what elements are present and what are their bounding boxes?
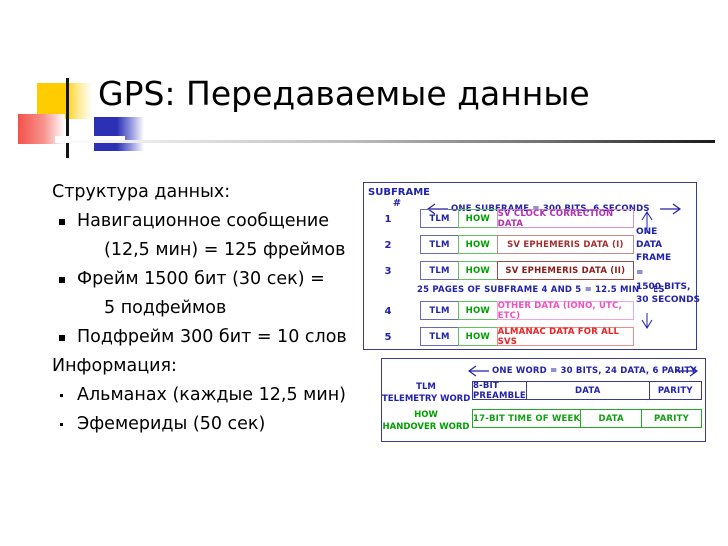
data-frame-annotation-line: 1500 BITS,	[636, 281, 700, 294]
how-word-name-line2: HANDOVER WORD	[382, 421, 470, 433]
subframe-pages-note: 25 PAGES OF SUBFRAME 4 AND 5 = 12.5 MINU…	[417, 285, 665, 295]
decor-blue-gradient	[117, 117, 144, 151]
body-list-item: Навигационное сообщение	[52, 207, 357, 236]
tlm-cell: TLM	[420, 235, 459, 254]
subframe-column-header-line2: #	[368, 199, 426, 209]
subframe-column-header-line1: SUBFRAME	[368, 188, 430, 198]
body-list-item: Эфемериды (50 сек)	[52, 410, 357, 439]
how-cell: HOW	[458, 301, 498, 320]
subframe-row: TLMHOWSV EPHEMERIS DATA (I)	[420, 235, 634, 254]
subframe-data-cell: SV CLOCK CORRECTION DATA	[497, 209, 634, 228]
word-field-cell: 17-BIT TIME OF WEEK	[472, 409, 581, 428]
decor-yellow-gradient	[65, 83, 92, 119]
how-word-name-line1: HOW	[384, 409, 468, 421]
body-heading: Структура данных:	[52, 178, 357, 207]
data-frame-annotation-line: ONE	[636, 226, 700, 239]
decor-vertical-rule	[66, 78, 69, 158]
subframe-row: TLMHOWALMANAC DATA FOR ALL SVS	[420, 327, 634, 346]
tlm-cell: TLM	[420, 261, 459, 280]
how-cell: HOW	[458, 327, 498, 346]
body-list-item: (12,5 мин) = 125 фреймов	[52, 236, 357, 265]
subframe-number: 4	[366, 306, 410, 317]
body-list-item: Фрейм 1500 бит (30 сек) =	[52, 265, 357, 294]
data-frame-annotation-line: 30 SECONDS	[636, 294, 700, 307]
word-structure-diagram: ONE WORD = 30 BITS, 24 DATA, 6 PARITY TL…	[381, 358, 706, 442]
how-cell: HOW	[458, 235, 498, 254]
how-cell: HOW	[458, 261, 498, 280]
subframe-number: 3	[366, 266, 410, 277]
subframe-data-cell: ALMANAC DATA FOR ALL SVS	[497, 327, 634, 346]
body-list-item: Альманах (каждые 12,5 мин)	[52, 381, 357, 410]
data-frame-annotation: ONEDATAFRAME=1500 BITS,30 SECONDS	[636, 226, 700, 307]
tlm-word-row: 8-BIT PREAMBLEDATAPARITY	[472, 381, 702, 400]
tlm-cell: TLM	[420, 327, 459, 346]
decor-blue-square	[94, 117, 117, 151]
decor-horizontal-rule	[55, 140, 715, 143]
how-word-row: 17-BIT TIME OF WEEKDATAPARITY	[472, 409, 702, 428]
page-title: GPS: Передаваемые данные	[98, 74, 590, 113]
data-frame-annotation-line: =	[636, 265, 700, 281]
subframe-number: 1	[366, 214, 410, 225]
tlm-word-name-line1: TLM	[384, 381, 468, 393]
slide-body-text: Структура данных:Навигационное сообщение…	[52, 178, 357, 439]
subframe-data-cell: SV EPHEMERIS DATA (I)	[497, 235, 634, 254]
subframe-row: TLMHOWOTHER DATA (IONO, UTC, ETC)	[420, 301, 634, 320]
word-field-cell: DATA	[580, 409, 642, 428]
subframe-row: TLMHOWSV EPHEMERIS DATA (II)	[420, 261, 634, 280]
body-list-item: 5 подфеймов	[52, 294, 357, 323]
word-span-label: ONE WORD = 30 BITS, 24 DATA, 6 PARITY	[492, 366, 697, 376]
data-frame-annotation-line: FRAME	[636, 252, 700, 265]
word-field-cell: DATA	[526, 381, 650, 400]
body-list-item: Подфрейм 300 бит = 10 слов	[52, 323, 357, 352]
word-field-cell: 8-BIT PREAMBLE	[472, 381, 527, 400]
subframe-structure-diagram: SUBFRAME # ONE SUBFRAME = 300 BITS, 6 SE…	[363, 182, 697, 350]
word-field-cell: PARITY	[649, 381, 702, 400]
word-field-cell: PARITY	[641, 409, 702, 428]
data-frame-annotation-line: DATA	[636, 239, 700, 252]
subframe-number: 5	[366, 332, 410, 343]
how-cell: HOW	[458, 209, 498, 228]
subframe-number: 2	[366, 240, 410, 251]
slide-title-block: GPS: Передаваемые данные	[0, 0, 728, 170]
decor-horizontal-highlight	[55, 136, 125, 140]
subframe-data-cell: OTHER DATA (IONO, UTC, ETC)	[497, 301, 634, 320]
tlm-word-name-line2: TELEMETRY WORD	[382, 393, 470, 405]
subframe-row: TLMHOWSV CLOCK CORRECTION DATA	[420, 209, 634, 228]
subframe-data-cell: SV EPHEMERIS DATA (II)	[497, 261, 634, 280]
tlm-cell: TLM	[420, 301, 459, 320]
body-heading: Информация:	[52, 352, 357, 381]
tlm-cell: TLM	[420, 209, 459, 228]
